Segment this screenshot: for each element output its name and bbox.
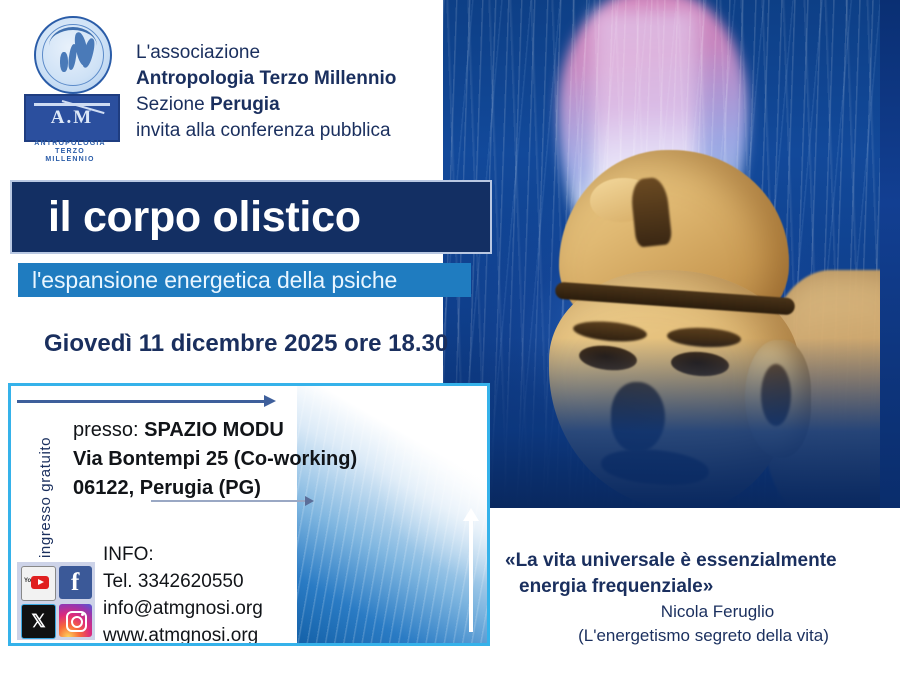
header-section-prefix: Sezione	[136, 94, 210, 115]
instagram-dot	[81, 613, 84, 616]
venue-prefix: presso:	[73, 419, 144, 441]
youtube-play-shape	[31, 576, 49, 589]
quote-source-work: (L'energetismo segreto della vita)	[505, 624, 890, 648]
quote-block: «La vita universale è essenzialmente ene…	[505, 548, 890, 648]
title-banner: il corpo olistico	[10, 180, 492, 254]
header-text-block: L'associazione Antropologia Terzo Millen…	[136, 40, 446, 144]
up-arrow-icon	[469, 520, 473, 632]
logo-name-line3: MILLENNIO	[18, 156, 122, 164]
quote-text: «La vita universale è essenzialmente ene…	[505, 548, 890, 600]
info-label: INFO:	[103, 541, 263, 568]
quote-author: Nicola Feruglio	[505, 600, 890, 624]
venue-info-box: ingresso gratuito presso: SPAZIO MODU Vi…	[8, 383, 490, 646]
logo-name-line2: TERZO	[18, 148, 122, 156]
page-subtitle: l'espansione energetica della psiche	[18, 267, 397, 294]
youtube-icon[interactable]: You	[21, 566, 56, 601]
social-links: You f 𝕏	[17, 562, 95, 640]
venue-street: Via Bontempi 25 (Co-working)	[73, 445, 357, 474]
facebook-glyph: f	[71, 570, 79, 595]
instagram-lens	[71, 616, 83, 628]
logo-figure-c	[60, 52, 68, 72]
venue-address-block: presso: SPAZIO MODU Via Bontempi 25 (Co-…	[73, 416, 357, 503]
header-line-organization: Antropologia Terzo Millennio	[136, 66, 446, 92]
page-title: il corpo olistico	[12, 193, 361, 242]
logo-name-text: ANTROPOLOGIA TERZO MILLENNIO	[18, 140, 122, 164]
quote-line-2: energia frequenziale»	[505, 574, 890, 600]
info-website[interactable]: www.atmgnosi.org	[103, 622, 263, 646]
poster-root: A.M ANTROPOLOGIA TERZO MILLENNIO L'assoc…	[0, 0, 900, 677]
header-line-invite: invita alla conferenza pubblica	[136, 118, 446, 144]
subtitle-banner: l'espansione energetica della psiche	[18, 263, 471, 297]
header-section-city: Perugia	[210, 94, 280, 115]
logo-plate: A.M	[24, 94, 120, 142]
contact-info-block: INFO: Tel. 3342620550 info@atmgnosi.org …	[103, 541, 263, 646]
facebook-icon[interactable]: f	[59, 566, 92, 599]
logo-name-line1: ANTROPOLOGIA	[18, 140, 122, 148]
logo-seal-icon	[34, 16, 112, 94]
logo-monogram: A.M	[26, 96, 118, 140]
hero-bottom-fade	[443, 338, 900, 508]
header-line-section: Sezione Perugia	[136, 92, 446, 118]
logo-figure-d	[67, 44, 78, 71]
venue-name: SPAZIO MODU	[144, 419, 284, 441]
venue-name-line: presso: SPAZIO MODU	[73, 416, 357, 445]
info-phone[interactable]: Tel. 3342620550	[103, 568, 263, 595]
x-twitter-icon[interactable]: 𝕏	[21, 604, 56, 639]
right-edge-strip	[880, 0, 900, 508]
x-glyph: 𝕏	[22, 605, 55, 638]
info-email[interactable]: info@atmgnosi.org	[103, 595, 263, 622]
header-line-association: L'associazione	[136, 40, 446, 66]
free-entry-label: ingresso gratuito	[37, 418, 54, 558]
instagram-icon[interactable]	[59, 604, 92, 637]
venue-city: 06122, Perugia (PG)	[73, 474, 357, 503]
event-date: Giovedì 11 dicembre 2025 ore 18.30	[44, 330, 448, 358]
right-arrow-icon-top	[17, 400, 265, 403]
hero-image-egyptian-statue	[443, 0, 900, 508]
header: A.M ANTROPOLOGIA TERZO MILLENNIO L'assoc…	[18, 14, 438, 164]
atm-logo: A.M ANTROPOLOGIA TERZO MILLENNIO	[18, 16, 122, 164]
quote-line-1: «La vita universale è essenzialmente	[505, 550, 837, 571]
